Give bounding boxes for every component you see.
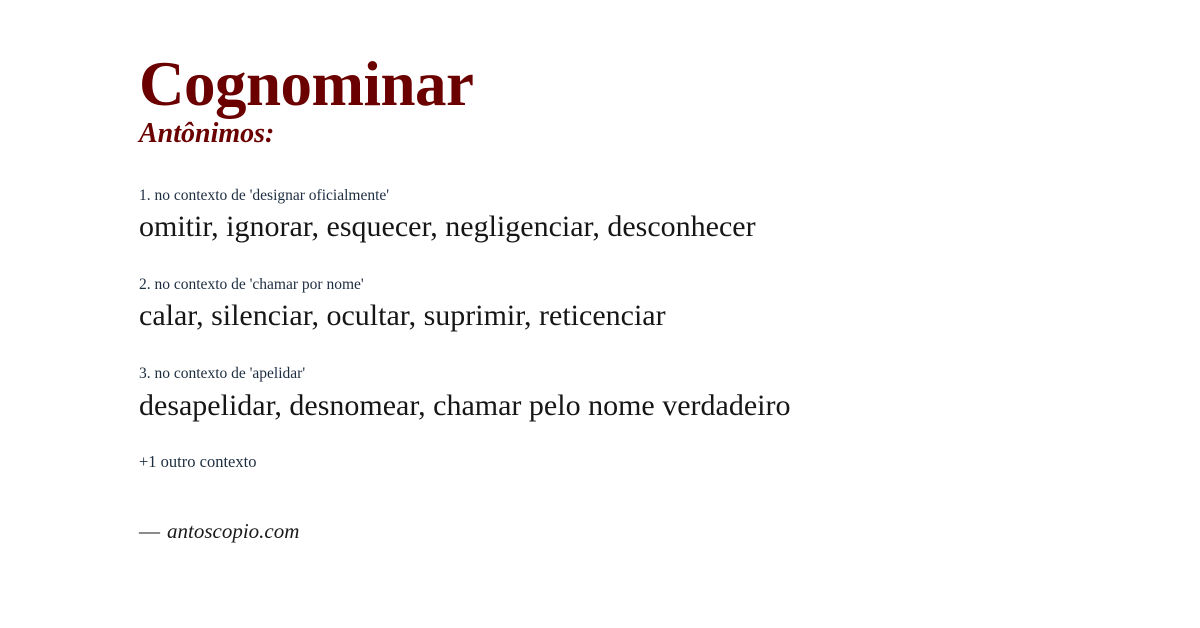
source-site: antoscopio.com <box>167 519 299 543</box>
sense-antonyms: desapelidar, desnomear, chamar pelo nome… <box>139 388 1200 425</box>
sense-list: 1. no contexto de 'designar oficialmente… <box>139 187 1200 425</box>
sense-context-label: 3. no contexto de 'apelidar' <box>139 365 1200 384</box>
sense-antonyms: omitir, ignorar, esquecer, negligenciar,… <box>139 209 1200 246</box>
em-dash: — <box>139 519 160 543</box>
sense-block: 3. no contexto de 'apelidar' desapelidar… <box>139 365 1200 424</box>
sense-antonyms: calar, silenciar, ocultar, suprimir, ret… <box>139 298 1200 335</box>
entry-subtitle-antonyms: Antônimos: <box>139 119 1200 148</box>
page-title: Cognominar <box>139 52 1200 116</box>
sense-context-label: 2. no contexto de 'chamar por nome' <box>139 276 1200 295</box>
sense-block: 1. no contexto de 'designar oficialmente… <box>139 187 1200 246</box>
thesaurus-entry-card: Cognominar Antônimos: 1. no contexto de … <box>0 0 1200 628</box>
sense-block: 2. no contexto de 'chamar por nome' cala… <box>139 276 1200 335</box>
attribution: —antoscopio.com <box>139 519 1200 544</box>
entry-header: Cognominar Antônimos: <box>139 0 1200 149</box>
more-contexts-note: +1 outro contexto <box>139 452 1200 472</box>
sense-context-label: 1. no contexto de 'designar oficialmente… <box>139 187 1200 206</box>
